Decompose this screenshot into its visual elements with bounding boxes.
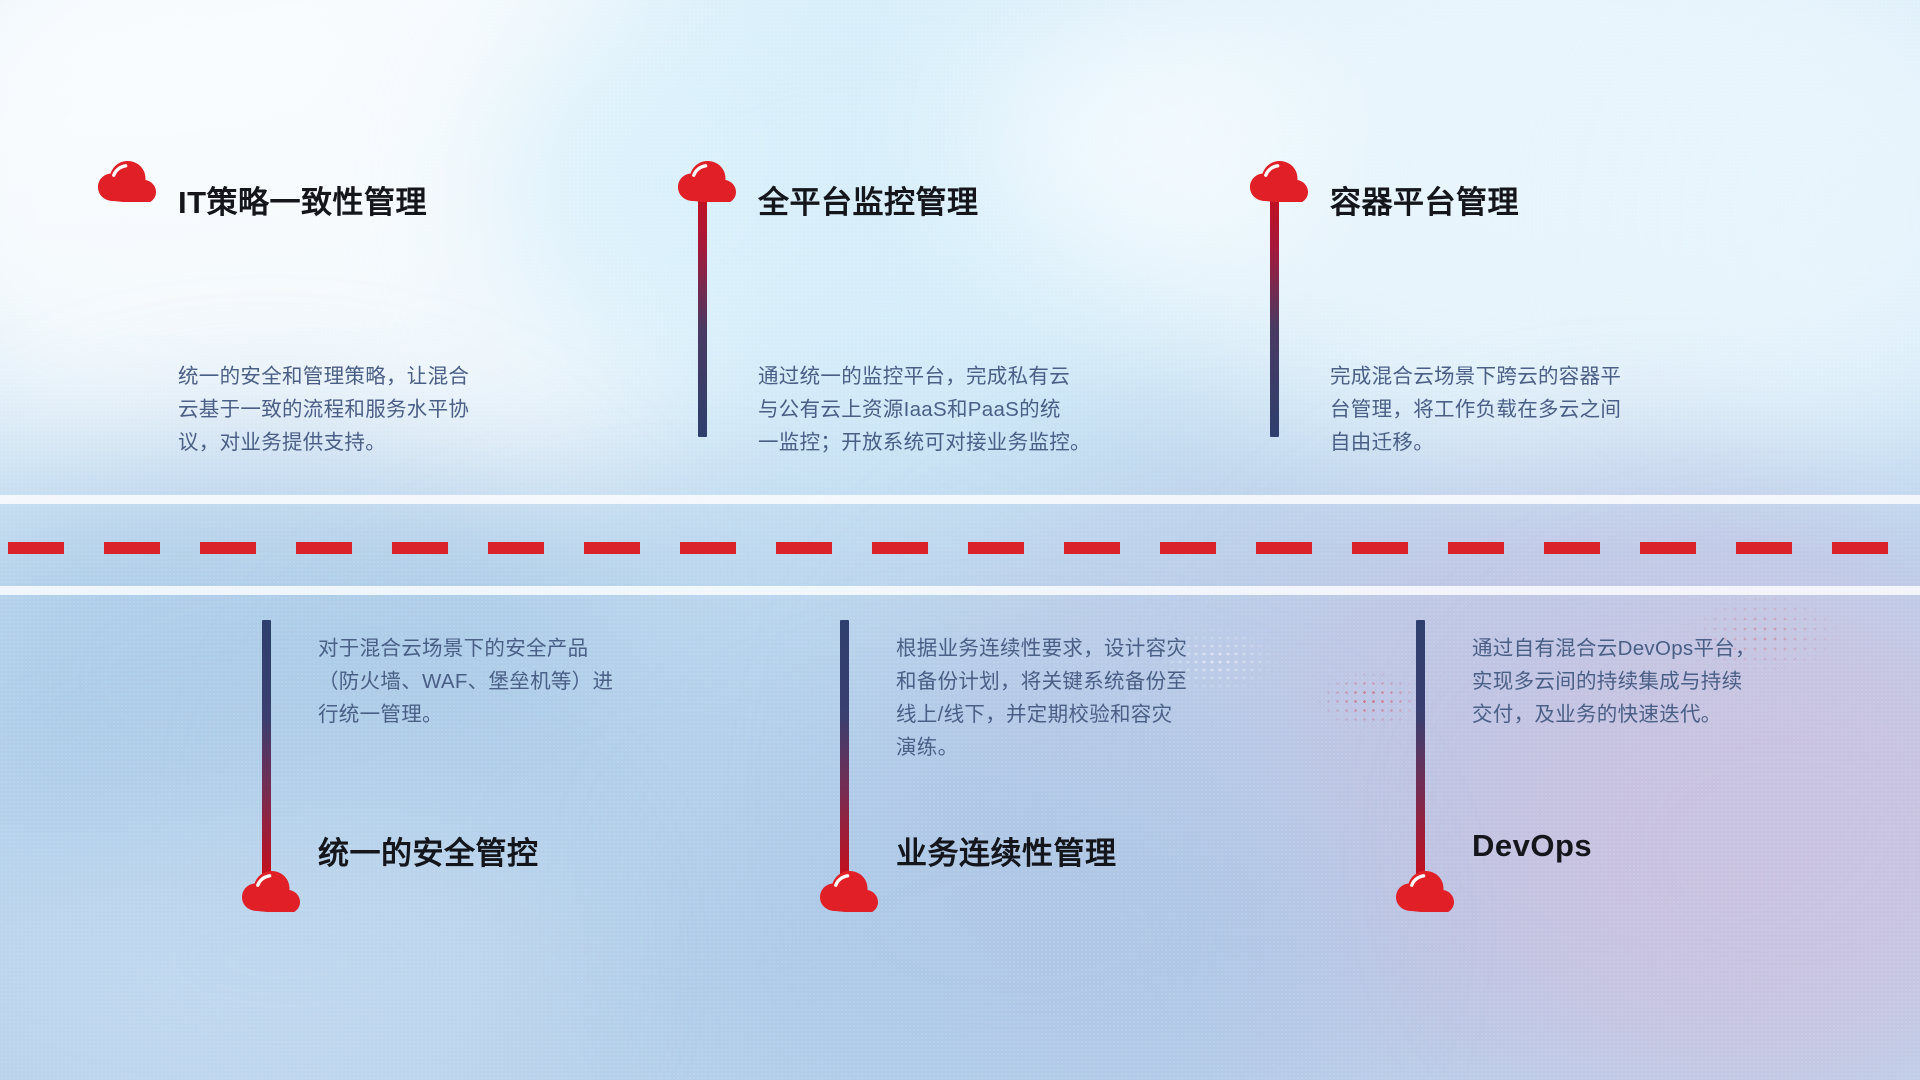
body-line: 行统一管理。 (318, 698, 678, 731)
cloud-icon (818, 868, 882, 912)
body-line: 云基于一致的流程和服务水平协 (178, 393, 538, 426)
item-title: 全平台监控管理 (758, 177, 979, 222)
item-title: IT策略一致性管理 (178, 177, 427, 222)
body-line: 统一的安全和管理策略，让混合 (178, 360, 538, 393)
item-title: 容器平台管理 (1330, 177, 1519, 222)
marker-stem (118, 192, 127, 437)
body-line: 交付，及业务的快速迭代。 (1472, 698, 1832, 731)
body-line: 通过统一的监控平台，完成私有云 (758, 360, 1138, 393)
cloud-icon (1248, 158, 1312, 202)
body-line: 自由迁移。 (1330, 426, 1690, 459)
body-line: 演练。 (896, 731, 1256, 764)
cloud-icon (1394, 868, 1458, 912)
item-title: 业务连续性管理 (896, 828, 1117, 873)
marker-stem (698, 192, 707, 437)
body-line: 根据业务连续性要求，设计容灾 (896, 632, 1256, 665)
body-line: 通过自有混合云DevOps平台， (1472, 632, 1832, 665)
cloud-icon (240, 868, 304, 912)
item-title: DevOps (1472, 828, 1592, 864)
item-body: 根据业务连续性要求，设计容灾 和备份计划，将关键系统备份至 线上/线下，并定期校… (896, 632, 1256, 764)
timeline-content: IT策略一致性管理 统一的安全和管理策略，让混合 云基于一致的流程和服务水平协 … (0, 0, 1920, 1080)
body-line: 与公有云上资源IaaS和PaaS的统 (758, 393, 1138, 426)
item-body: 完成混合云场景下跨云的容器平 台管理，将工作负载在多云之间 自由迁移。 (1330, 360, 1690, 459)
body-line: 完成混合云场景下跨云的容器平 (1330, 360, 1690, 393)
item-body: 通过自有混合云DevOps平台， 实现多云间的持续集成与持续 交付，及业务的快速… (1472, 632, 1832, 731)
marker-stem (840, 620, 849, 875)
body-line: 实现多云间的持续集成与持续 (1472, 665, 1832, 698)
marker-stem (262, 620, 271, 875)
body-line: 线上/线下，并定期校验和容灾 (896, 698, 1256, 731)
cloud-icon (96, 158, 160, 202)
body-line: 议，对业务提供支持。 (178, 426, 538, 459)
body-line: 台管理，将工作负载在多云之间 (1330, 393, 1690, 426)
body-line: 一监控；开放系统可对接业务监控。 (758, 426, 1138, 459)
body-line: 对于混合云场景下的安全产品 (318, 632, 678, 665)
item-body: 通过统一的监控平台，完成私有云 与公有云上资源IaaS和PaaS的统 一监控；开… (758, 360, 1138, 459)
marker-stem (1416, 620, 1425, 875)
item-title: 统一的安全管控 (318, 828, 539, 873)
item-body: 对于混合云场景下的安全产品 （防火墙、WAF、堡垒机等）进 行统一管理。 (318, 632, 678, 731)
item-body: 统一的安全和管理策略，让混合 云基于一致的流程和服务水平协 议，对业务提供支持。 (178, 360, 538, 459)
cloud-icon (676, 158, 740, 202)
marker-stem (1270, 192, 1279, 437)
body-line: 和备份计划，将关键系统备份至 (896, 665, 1256, 698)
body-line: （防火墙、WAF、堡垒机等）进 (318, 665, 678, 698)
